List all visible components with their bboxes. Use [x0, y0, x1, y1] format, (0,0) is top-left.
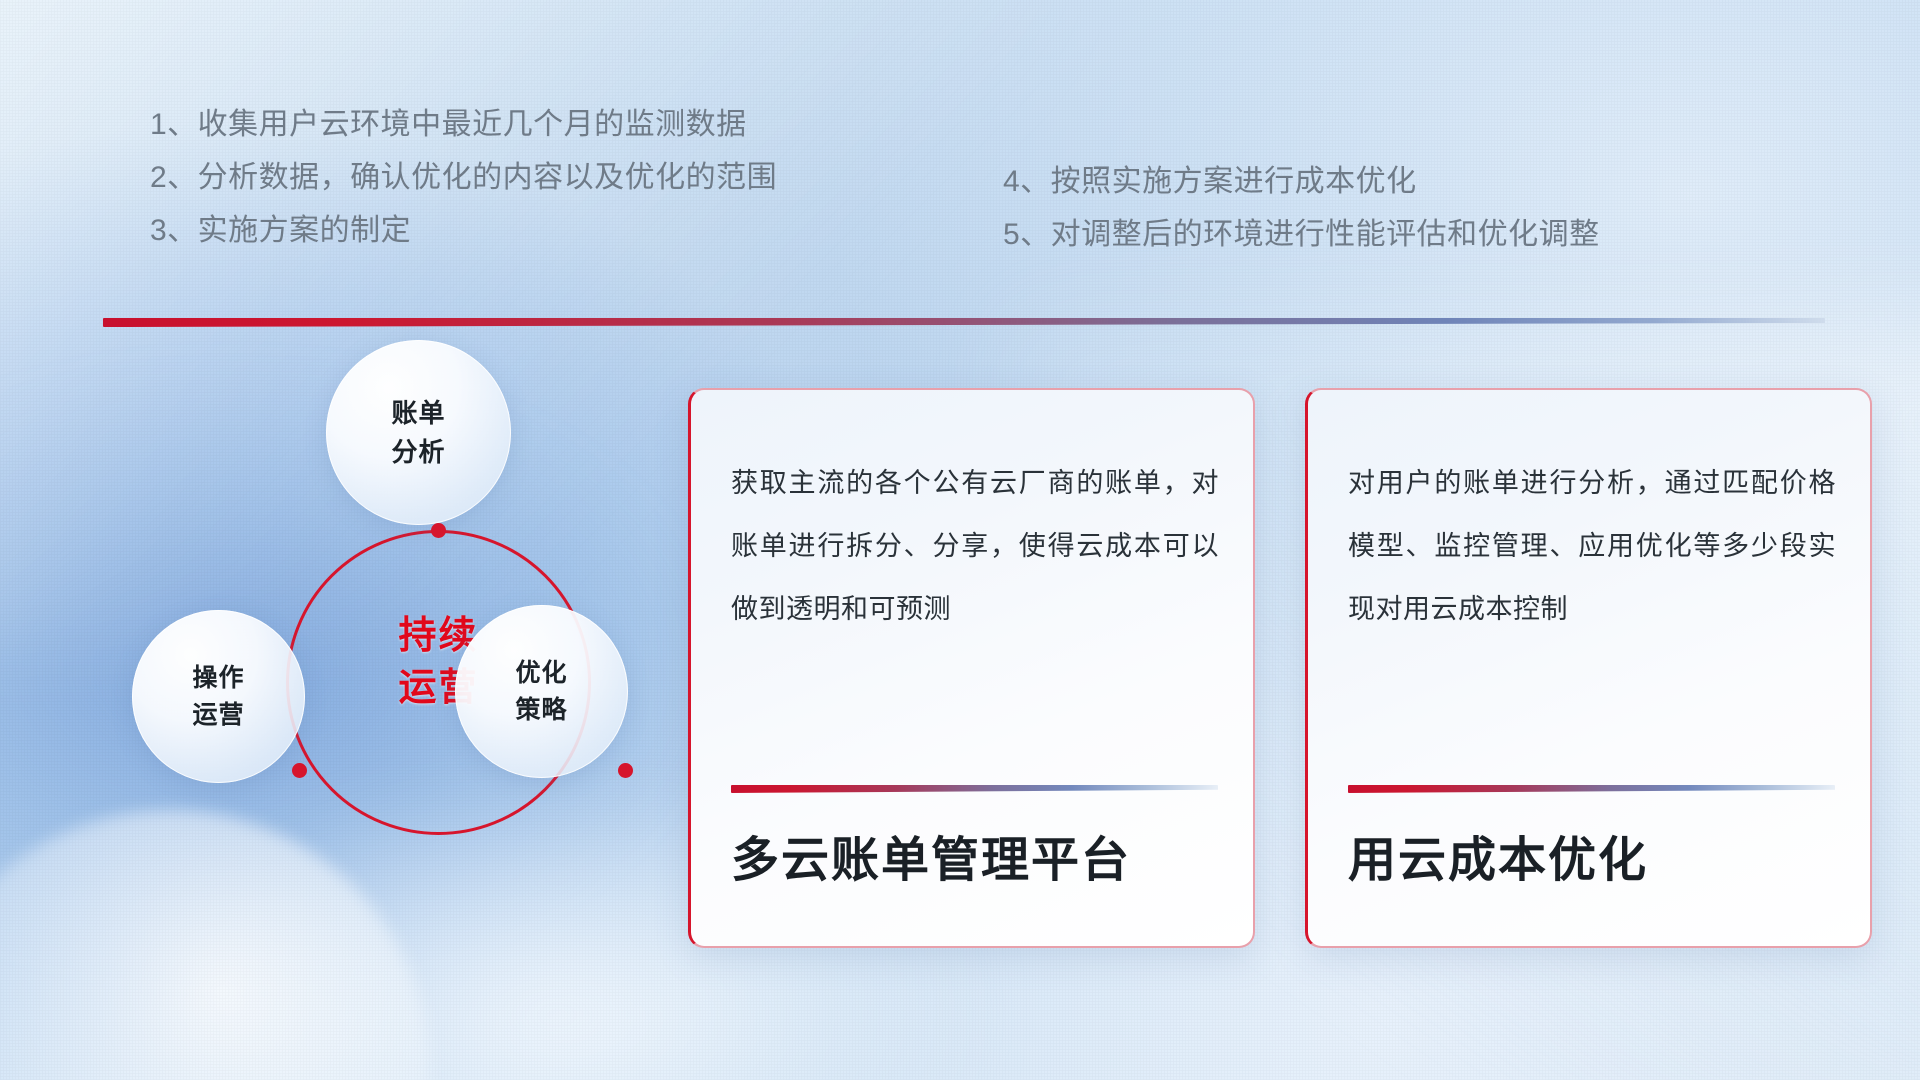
diagram-node-optimization-strategy[interactable]: 优化 策略: [455, 605, 628, 778]
card-2-body: 对用户的账单进行分析，通过匹配价格模型、监控管理、应用优化等多少段实现对用云成本…: [1348, 452, 1836, 641]
card-1-divider-bar: [731, 785, 1218, 793]
bullet-item-2: 2、分析数据，确认优化的内容以及优化的范围: [150, 151, 777, 204]
header-gradient-divider: [103, 318, 1825, 327]
diagram-node-operations-line1: 操作: [192, 660, 244, 697]
diagram-node-bill-analysis-label: 账单 分析: [391, 394, 445, 472]
diagram-node-operations[interactable]: 操作 运营: [132, 610, 305, 783]
card-2-title: 用云成本优化: [1348, 820, 1648, 890]
card-multi-cloud-billing-platform[interactable]: 获取主流的各个公有云厂商的账单，对账单进行拆分、分享，使得云成本可以做到透明和可…: [688, 388, 1255, 948]
card-2-divider-bar: [1348, 785, 1835, 793]
bullet-item-5: 5、对调整后的环境进行性能评估和优化调整: [1003, 208, 1600, 261]
diagram-node-optimization-strategy-line1: 优化: [515, 655, 567, 692]
diagram-node-bill-analysis-line1: 账单: [391, 394, 445, 433]
header-gradient-divider-bar: [103, 318, 1825, 327]
bullet-column-left: 1、收集用户云环境中最近几个月的监测数据 2、分析数据，确认优化的内容以及优化的…: [150, 98, 777, 257]
card-1-divider: [731, 785, 1218, 793]
diagram-node-operations-label: 操作 运营: [192, 660, 244, 734]
diagram-node-optimization-strategy-line2: 策略: [515, 692, 567, 729]
card-1-title: 多云账单管理平台: [731, 820, 1131, 890]
card-2-divider: [1348, 785, 1835, 793]
diagram-node-optimization-strategy-label: 优化 策略: [515, 655, 567, 729]
diagram-node-bill-analysis-line2: 分析: [391, 433, 445, 472]
card-cloud-cost-optimization[interactable]: 对用户的账单进行分析，通过匹配价格模型、监控管理、应用优化等多少段实现对用云成本…: [1305, 388, 1872, 948]
bullet-item-4: 4、按照实施方案进行成本优化: [1003, 155, 1600, 208]
bullet-column-right: 4、按照实施方案进行成本优化 5、对调整后的环境进行性能评估和优化调整: [1003, 155, 1600, 261]
diagram-node-operations-line2: 运营: [192, 697, 244, 734]
diagram-node-bill-analysis[interactable]: 账单 分析: [326, 340, 511, 525]
card-1-body: 获取主流的各个公有云厂商的账单，对账单进行拆分、分享，使得云成本可以做到透明和可…: [731, 452, 1219, 641]
diagram-connector-dot-left: [292, 763, 307, 778]
bullet-list-section: 1、收集用户云环境中最近几个月的监测数据 2、分析数据，确认优化的内容以及优化的…: [0, 0, 1920, 260]
diagram-connector-dot-top: [431, 523, 446, 538]
continuous-operation-diagram: 持续 运营 账单 分析 操作 运营 优化 策略: [100, 355, 620, 915]
bullet-item-3: 3、实施方案的制定: [150, 204, 777, 257]
bullet-item-1: 1、收集用户云环境中最近几个月的监测数据: [150, 98, 777, 151]
diagram-connector-dot-right: [618, 763, 633, 778]
